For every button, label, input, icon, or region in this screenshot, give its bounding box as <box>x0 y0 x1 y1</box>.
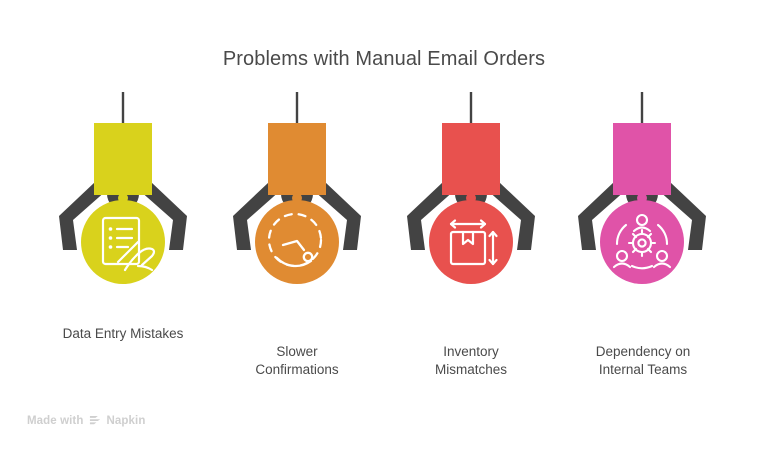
body-rect-1 <box>268 123 326 195</box>
label-line-1: Data Entry Mistakes <box>18 325 228 343</box>
napkin-chevron-logo-icon <box>89 414 102 427</box>
label-line-1: Dependency on <box>538 343 748 361</box>
icon-circle-3 <box>600 200 684 284</box>
made-with-napkin-footer[interactable]: Made with Napkin <box>27 414 145 427</box>
body-rect-0 <box>94 123 152 195</box>
robot-figure-2 <box>381 90 561 305</box>
body-rect-3 <box>613 123 671 195</box>
robot-figure-1 <box>207 90 387 305</box>
icon-circle-0 <box>81 200 165 284</box>
label-line-2: Internal Teams <box>538 361 748 379</box>
figure-group-0 <box>33 90 213 305</box>
robot-figure-0 <box>33 90 213 305</box>
body-rect-2 <box>442 123 500 195</box>
robot-figure-3 <box>552 90 732 305</box>
figure-group-1 <box>207 90 387 305</box>
figure-group-2 <box>381 90 561 305</box>
page-title: Problems with Manual Email Orders <box>0 48 768 71</box>
infographic-canvas: Problems with Manual Email Orders <box>0 0 768 452</box>
figure-label-0: Data Entry Mistakes <box>18 325 228 343</box>
made-with-label: Made with <box>27 415 84 427</box>
napkin-brand-name: Napkin <box>107 415 146 427</box>
figure-label-3: Dependency on Internal Teams <box>538 343 748 379</box>
figure-group-3 <box>552 90 732 305</box>
